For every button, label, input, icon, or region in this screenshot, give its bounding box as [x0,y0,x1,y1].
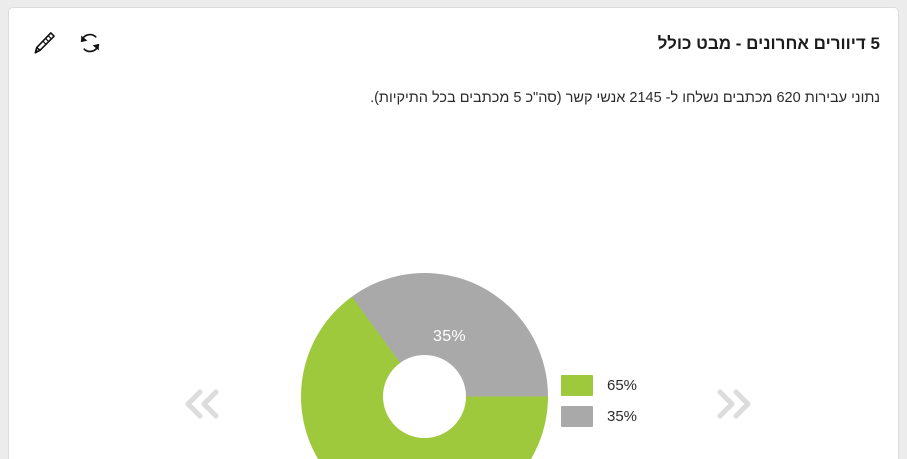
legend-item[interactable]: 35% [561,406,637,427]
edit-icon[interactable] [29,28,59,58]
chart-region: 65% 35% 65% 35% [9,128,898,428]
chart-legend: 65% 35% [561,375,637,427]
prev-arrow-icon[interactable] [175,376,231,432]
dashboard-card: 5 דיוורים אחרונים - מבט כולל [8,7,899,459]
legend-swatch-green [561,375,593,396]
legend-item[interactable]: 65% [561,375,637,396]
legend-label: 35% [607,408,637,425]
card-header: 5 דיוורים אחרונים - מבט כולל [9,8,898,70]
page-title: 5 דיוורים אחרונים - מבט כולל [658,34,880,54]
refresh-icon[interactable] [75,28,105,58]
slice-label-gray: 35% [433,328,466,346]
next-arrow-icon[interactable] [705,376,761,432]
legend-swatch-gray [561,406,593,427]
donut-chart: 65% 35% [301,273,548,459]
header-toolbar [29,28,105,58]
legend-label: 65% [607,377,637,394]
chart-subtitle: נתוני עבירות 620 מכתבים נשלחו ל- 2145 אנ… [27,90,880,106]
